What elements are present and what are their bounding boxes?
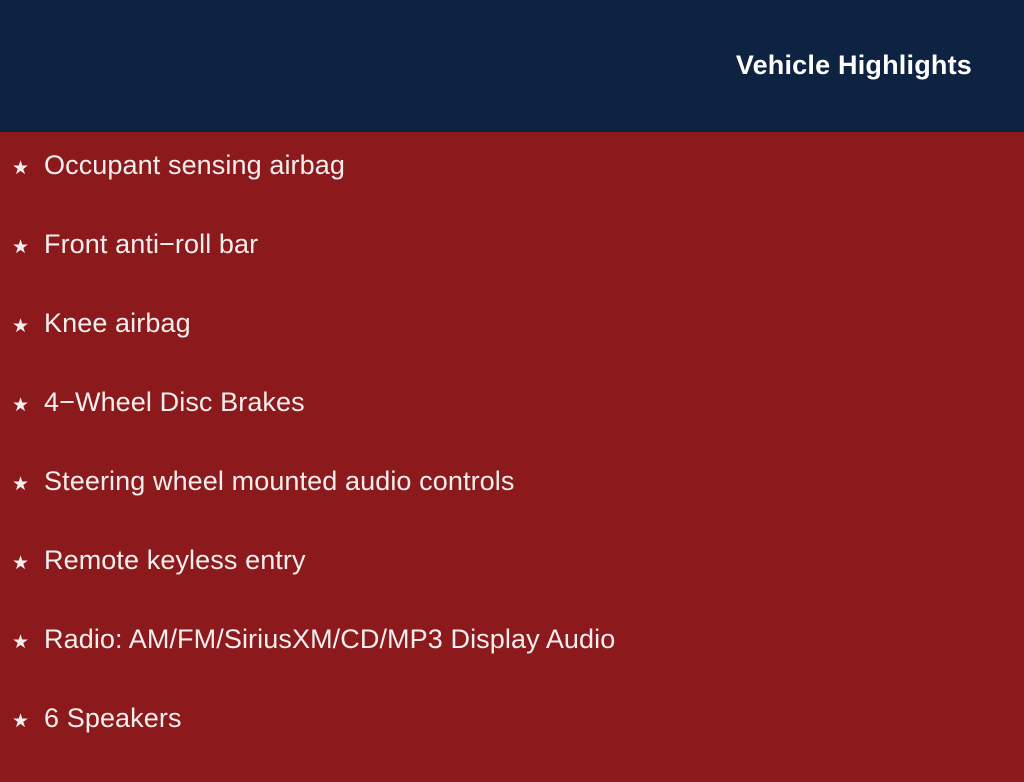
list-item: ★ Steering wheel mounted audio controls [0, 466, 1024, 545]
list-item: ★ Front anti−roll bar [0, 229, 1024, 308]
list-item-label: 4−Wheel Disc Brakes [44, 387, 305, 418]
slide-body: ★ Occupant sensing airbag ★ Front anti−r… [0, 132, 1024, 768]
star-icon: ★ [12, 712, 44, 731]
list-item: ★ 4−Wheel Disc Brakes [0, 387, 1024, 466]
star-icon: ★ [12, 554, 44, 573]
star-icon: ★ [12, 317, 44, 336]
star-icon: ★ [12, 159, 44, 178]
list-item: ★ Remote keyless entry [0, 545, 1024, 624]
page-title: Vehicle Highlights [736, 51, 972, 81]
vehicle-highlights-slide: Vehicle Highlights ★ Occupant sensing ai… [0, 0, 1024, 768]
list-item-label: Occupant sensing airbag [44, 150, 345, 181]
list-item: ★ Radio: AM/FM/SiriusXM/CD/MP3 Display A… [0, 624, 1024, 703]
list-item-label: Steering wheel mounted audio controls [44, 466, 515, 497]
star-icon: ★ [12, 633, 44, 652]
list-item: ★ Knee airbag [0, 308, 1024, 387]
list-item: ★ 6 Speakers [0, 703, 1024, 782]
list-item-label: 6 Speakers [44, 703, 182, 734]
list-item-label: Front anti−roll bar [44, 229, 258, 260]
slide-header: Vehicle Highlights [0, 0, 1024, 132]
vehicle-highlights-list: ★ Occupant sensing airbag ★ Front anti−r… [0, 150, 1024, 782]
list-item-label: Knee airbag [44, 308, 191, 339]
list-item-label: Remote keyless entry [44, 545, 306, 576]
star-icon: ★ [12, 238, 44, 257]
list-item: ★ Occupant sensing airbag [0, 150, 1024, 229]
star-icon: ★ [12, 475, 44, 494]
list-item-label: Radio: AM/FM/SiriusXM/CD/MP3 Display Aud… [44, 624, 615, 655]
star-icon: ★ [12, 396, 44, 415]
